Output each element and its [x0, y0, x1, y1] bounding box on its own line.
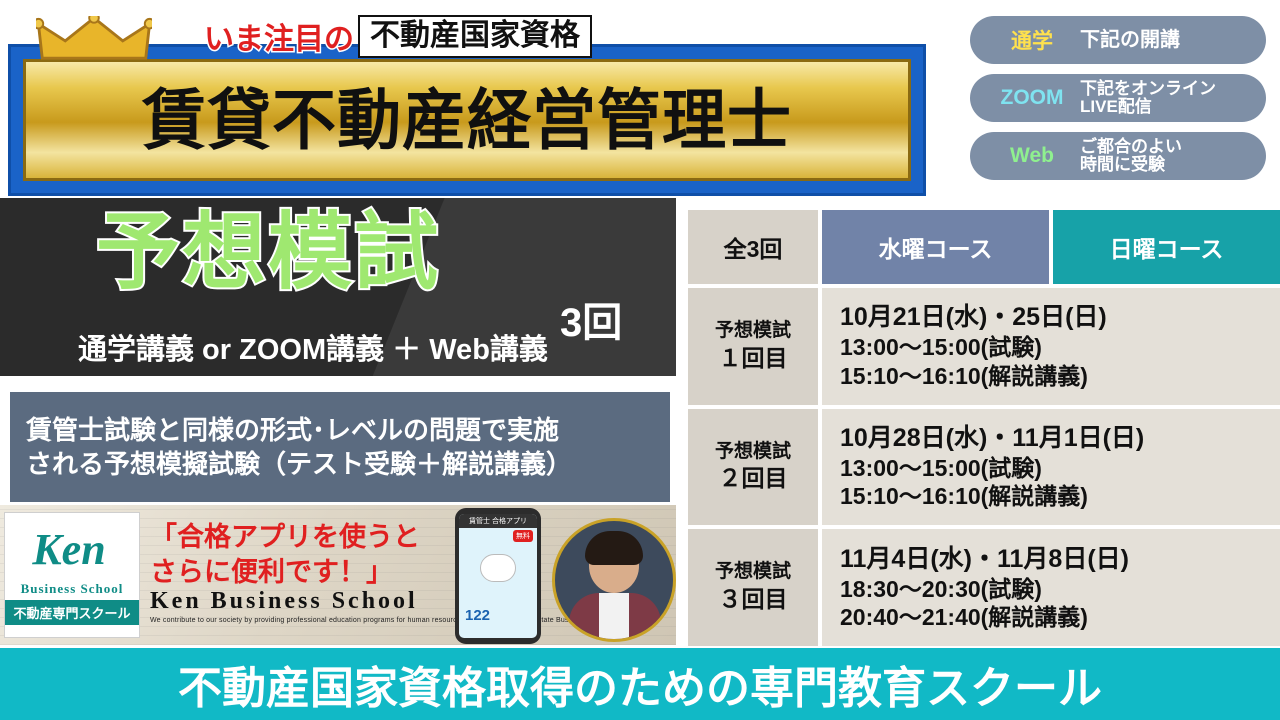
hero-gold-plate: 賃貸不動産経営管理士 [23, 59, 911, 181]
brand-name-en: Ken Business School [150, 588, 620, 615]
table-row-label-3-top: 予想模試 [715, 560, 791, 585]
app-free-badge: 無料 [513, 530, 533, 542]
logo-sub-jp: 不動産専門スクール [5, 600, 139, 625]
table-row-3-lecture-time: 20:40〜21:40(解説講義) [840, 603, 1088, 632]
brand-line: Ken Business School We contribute to our… [150, 588, 620, 624]
table-row-detail-3: 11月4日(水)・11月8日(日) 18:30〜20:30(試験) 20:40〜… [822, 529, 1280, 646]
table-row-1-lecture-time: 15:10〜16:10(解説講義) [840, 362, 1088, 391]
hero-banner: 賃貸不動産経営管理士 いま注目の 不動産国家資格 [8, 14, 926, 196]
footer-banner: 不動産国家資格取得のための専門教育スクール [0, 648, 1280, 720]
table-row-detail-2: 10月28日(水)・11月1日(日) 13:00〜15:00(試験) 15:10… [822, 409, 1280, 526]
table-header-wednesday: 水曜コース [822, 210, 1049, 284]
hero-ribbon-prefix: いま注目の [204, 14, 354, 58]
delivery-mode-web-value: ご都合のよい 時間に受験 [1080, 138, 1182, 174]
mock-exam-block: 予想模試 3回 通学講義 or ZOOM講義 ＋ Web講義 [0, 198, 676, 376]
delivery-mode-zoom-value: 下記をオンライン LIVE配信 [1080, 80, 1216, 116]
ken-business-school-logo: Ken Business School 不動産専門スクール [4, 512, 140, 638]
delivery-mode-zoom-value-line1: 下記をオンライン [1080, 80, 1216, 98]
poster-root: 賃貸不動産経営管理士 いま注目の 不動産国家資格 通学 下記の開講 ZOOM 下… [0, 0, 1280, 720]
delivery-mode-classroom-key: 通学 [984, 25, 1080, 55]
instructor-avatar [552, 518, 676, 642]
delivery-mode-classroom-value: 下記の開講 [1080, 30, 1180, 51]
table-row-3-exam-time: 18:30〜20:30(試験) [840, 575, 1042, 604]
app-phone-mockup: 賃管士 合格アプリ 無料 122 [455, 508, 541, 644]
mock-exam-subtitle: 通学講義 or ZOOM講義 ＋ Web講義 [78, 326, 548, 368]
table-header-sunday: 日曜コース [1053, 210, 1280, 284]
table-row-label-1-num: １回目 [719, 344, 788, 374]
app-mascot-icon [480, 554, 516, 582]
page-title: 賃貸不動産経営管理士 [142, 87, 792, 153]
delivery-mode-web-value-line1: ご都合のよい [1080, 138, 1182, 156]
table-row-2-exam-time: 13:00〜15:00(試験) [840, 454, 1042, 483]
delivery-mode-zoom: ZOOM 下記をオンライン LIVE配信 [970, 74, 1266, 122]
logo-mark: Ken [5, 517, 133, 581]
table-row-label-2: 予想模試 ２回目 [688, 409, 818, 526]
delivery-mode-zoom-value-line2: LIVE配信 [1080, 98, 1216, 116]
app-screen-title: 賃管士 合格アプリ [459, 514, 537, 528]
delivery-mode-list: 通学 下記の開講 ZOOM 下記をオンライン LIVE配信 Web ご都合のよい… [970, 16, 1266, 190]
delivery-mode-zoom-key: ZOOM [984, 86, 1080, 110]
logo-sub-en: Business School [5, 581, 139, 597]
table-row-label-1-top: 予想模試 [715, 319, 791, 344]
crown-icon [36, 16, 152, 62]
table-row-1-exam-time: 13:00〜15:00(試験) [840, 333, 1042, 362]
app-quote: 「合格アプリを使うと さらに便利です！」 [150, 520, 440, 590]
description-line-1: 賃管士試験と同様の形式･レベルの問題で実施 [26, 413, 654, 447]
avatar-shirt [599, 593, 629, 642]
app-quote-line-1: 「合格アプリを使うと [150, 520, 440, 555]
delivery-mode-web: Web ご都合のよい 時間に受験 [970, 132, 1266, 180]
table-row-label-2-top: 予想模試 [715, 440, 791, 465]
table-row-label-1: 予想模試 １回目 [688, 288, 818, 405]
delivery-mode-classroom: 通学 下記の開講 [970, 16, 1266, 64]
app-quote-line-2: さらに便利です！」 [150, 555, 440, 590]
table-row-label-3-num: ３回目 [719, 585, 788, 615]
table-row-detail-1: 10月21日(水)・25日(日) 13:00〜15:00(試験) 15:10〜1… [822, 288, 1280, 405]
description-box: 賃管士試験と同様の形式･レベルの問題で実施 される予想模擬試験（テスト受験＋解説… [10, 392, 670, 502]
description-line-2: される予想模擬試験（テスト受験＋解説講義） [26, 447, 654, 481]
table-row-label-3: 予想模試 ３回目 [688, 529, 818, 646]
brand-tagline: We contribute to our society by providin… [150, 617, 620, 624]
delivery-mode-web-value-line2: 時間に受験 [1080, 156, 1182, 174]
table-row-label-2-num: ２回目 [719, 464, 788, 494]
logo-mark-text: Ken [32, 524, 105, 575]
mock-exam-times: 3回 [560, 290, 622, 348]
app-phone-screen: 賃管士 合格アプリ 無料 122 [459, 514, 537, 638]
schedule-table: 全3回 水曜コース 日曜コース 予想模試 １回目 10月21日(水)・25日(日… [688, 210, 1272, 646]
footer-text: 不動産国家資格取得のための専門教育スクール [178, 652, 1102, 716]
hero-ribbon-badge: 不動産国家資格 [358, 15, 592, 58]
mock-exam-title: 予想模試 [96, 210, 440, 294]
avatar-hair [585, 531, 643, 565]
table-row-2-date: 10月28日(水)・11月1日(日) [840, 423, 1144, 454]
hero-frame: 賃貸不動産経営管理士 [8, 44, 926, 196]
table-row-3-date: 11月4日(水)・11月8日(日) [840, 544, 1129, 575]
table-header-count: 全3回 [688, 210, 818, 284]
app-question-count: 122 [465, 607, 490, 624]
hero-ribbon: いま注目の 不動産国家資格 [204, 14, 592, 58]
delivery-mode-web-key: Web [984, 144, 1080, 168]
table-row-1-date: 10月21日(水)・25日(日) [840, 302, 1107, 333]
table-row-2-lecture-time: 15:10〜16:10(解説講義) [840, 482, 1088, 511]
